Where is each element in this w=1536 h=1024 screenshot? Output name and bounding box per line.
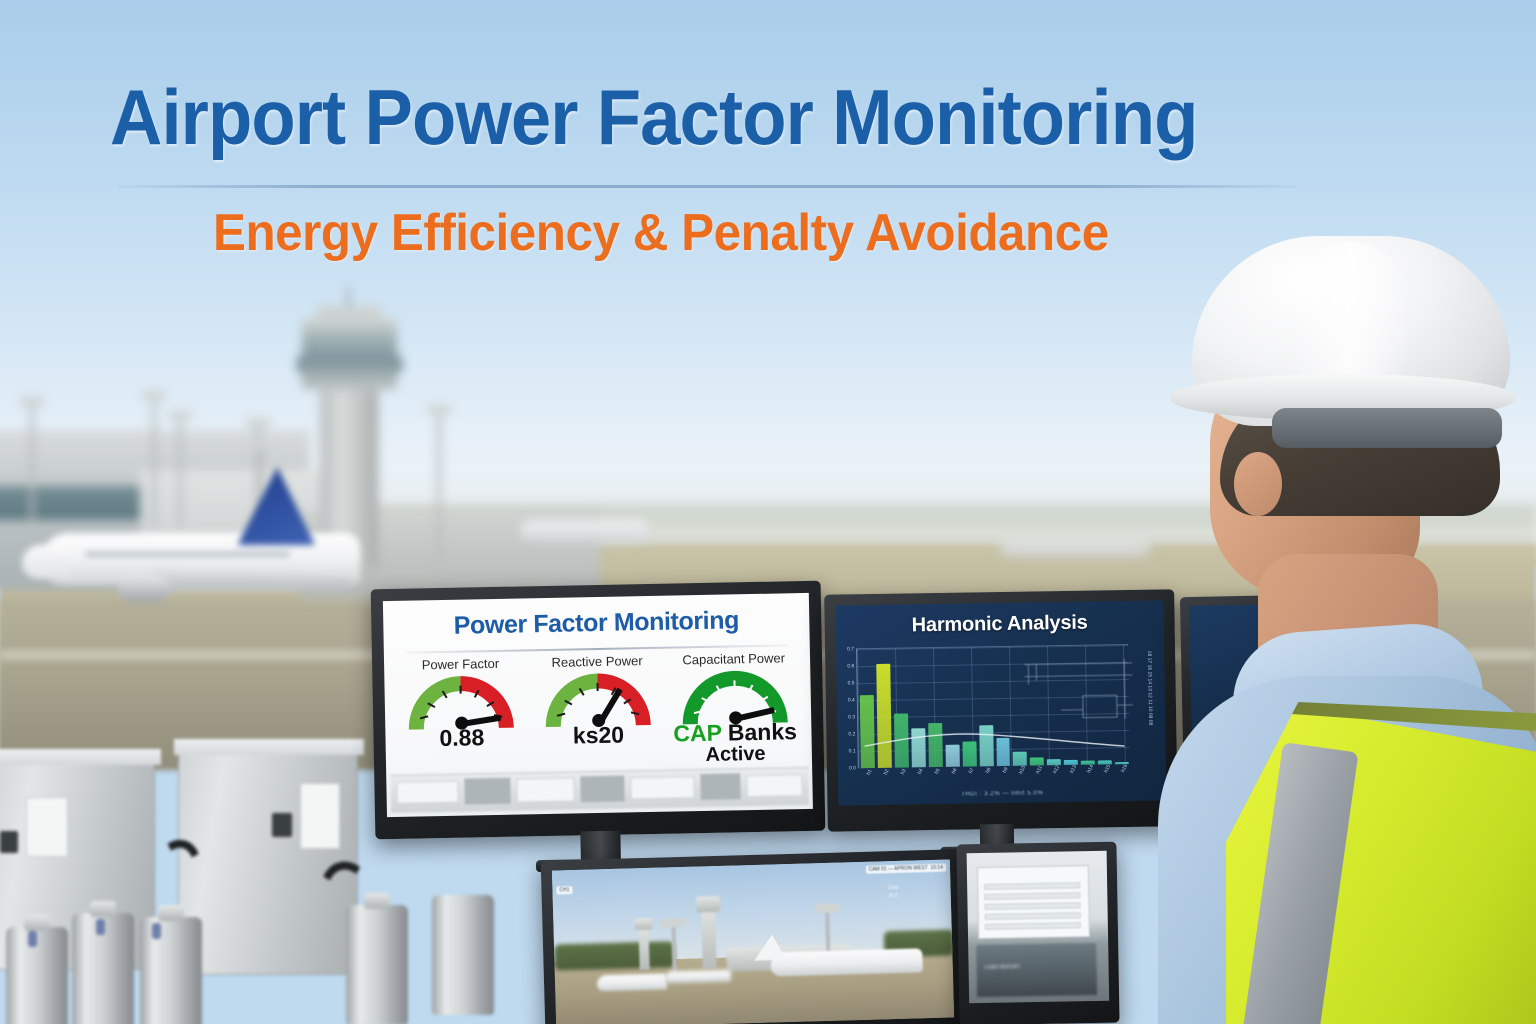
- camera-tower-small: [638, 924, 649, 970]
- chart-y-tick: 0.5: [848, 680, 855, 686]
- chart-y-tick: 0.7: [847, 646, 854, 652]
- harmonic-screen-title: Harmonic Analysis: [835, 610, 1163, 638]
- screen-apron-camera[interactable]: CAM 01 — APRON WEST 10:14 CH1 Gate A12: [552, 859, 954, 1024]
- capacitor-terminal: [24, 915, 50, 931]
- chart-x-tick: h7: [968, 767, 976, 775]
- chart-x-tick: h8: [985, 767, 993, 775]
- chart-x-tick: h16: [1120, 763, 1129, 773]
- gauge-icon: [681, 668, 788, 726]
- gauge-reactive-power[interactable]: Reactive Power: [529, 653, 668, 770]
- strip-cell: [630, 776, 694, 799]
- chart-x-tick: h5: [934, 768, 942, 776]
- load-report-photo: LOAD REPORT: [976, 943, 1097, 997]
- light-mast: [152, 398, 156, 528]
- camera-channel-badge: CH1: [556, 886, 572, 894]
- light-mast: [30, 404, 34, 524]
- chart-x-tick: h12: [1052, 764, 1061, 774]
- camera-hud-line2: A12: [889, 892, 898, 898]
- chart-y-tick: 0.0: [849, 765, 856, 771]
- power-capacitor: [140, 917, 202, 1024]
- chart-x-tick: h11: [1035, 765, 1044, 775]
- load-report-title: LOAD REPORT: [985, 964, 1021, 971]
- control-tower-cab: [302, 318, 397, 390]
- gauge-icon: [544, 671, 651, 729]
- page-subtitle: Energy Efficiency & Penalty Avoidance: [213, 203, 1258, 263]
- strip-cell: [516, 777, 574, 802]
- airliner-windows: [85, 552, 290, 556]
- page-title: Airport Power Factor Monitoring: [110, 72, 1226, 163]
- gauge-label: Capacitant Power: [665, 650, 802, 668]
- monitor-power-factor[interactable]: Power Factor Monitoring Power Factor: [371, 581, 826, 840]
- monitor-harmonic-analysis[interactable]: Harmonic Analysis 0.00.10.20.30.40.50.60…: [824, 589, 1178, 831]
- camera-time-text: 10:14: [930, 865, 943, 871]
- harmonic-footer-note: THDi : 3.2% — limit 5.0%: [838, 788, 1166, 799]
- engineer-figure: [1140, 236, 1536, 1024]
- gauge-label: Power Factor: [392, 655, 529, 673]
- strip-cell: [700, 773, 740, 800]
- airliner-engine: [118, 576, 170, 602]
- camera-hud-line1: Gate: [888, 885, 899, 891]
- cabinet-nameplate: [26, 797, 68, 857]
- cabinet-nameplate: [300, 783, 340, 849]
- camera-aircraft-secondary: [597, 973, 667, 991]
- gauge-label: Reactive Power: [529, 653, 666, 671]
- chart-y-tick: 0.6: [847, 663, 854, 669]
- capacitor-bolt: [152, 923, 161, 939]
- chart-x-tick: h15: [1103, 764, 1112, 774]
- switchgear-cabinet: [178, 745, 358, 975]
- camera-tower-small-cab: [634, 918, 652, 930]
- strip-cell: [396, 781, 458, 804]
- pf-screen-title: Power Factor Monitoring: [383, 605, 809, 642]
- chart-x-tick: h14: [1086, 764, 1095, 774]
- camera-label-text: CAM 01 — APRON WEST: [869, 865, 928, 873]
- control-tower-mast: [347, 288, 350, 308]
- gauge-capacitant-power[interactable]: Capacitant Power: [665, 650, 804, 767]
- chart-y-tick: 0.4: [848, 697, 855, 703]
- chart-x-tick: h10: [1018, 765, 1027, 775]
- camera-treeline: [554, 941, 675, 970]
- gauge-row: Power Factor: [392, 650, 804, 772]
- camera-aircraft-main: [770, 948, 923, 976]
- chart-x-tick: h9: [1002, 767, 1010, 775]
- power-capacitor: [432, 895, 494, 1015]
- chart-x-tick: h4: [917, 768, 925, 776]
- gauge-hub: [729, 711, 742, 724]
- chart-x-tick: h3: [900, 768, 908, 776]
- power-capacitor: [6, 927, 68, 1024]
- capacitor-bolt: [96, 919, 105, 935]
- airliner-nose: [22, 545, 70, 579]
- control-tower-roof: [316, 306, 382, 320]
- pf-data-strip[interactable]: [390, 767, 809, 813]
- cabinet-roof: [0, 749, 161, 765]
- chart-x-tick: h13: [1069, 764, 1078, 774]
- hard-hat-suspension: [1272, 408, 1502, 448]
- gauge-icon: [408, 674, 515, 732]
- chart-y-tick: 0.1: [849, 748, 856, 754]
- cabinet-roof: [174, 739, 364, 755]
- chart-x-tick: h2: [883, 768, 891, 776]
- screen-load-report[interactable]: LOAD REPORT: [967, 851, 1110, 1003]
- monitor-apron-camera[interactable]: CAM 01 — APRON WEST 10:14 CH1 Gate A12: [541, 849, 966, 1024]
- title-divider: [118, 185, 1296, 188]
- light-mast: [437, 412, 441, 562]
- chart-x-tick: h6: [951, 767, 959, 775]
- strip-cell: [464, 778, 510, 805]
- strip-cell: [580, 776, 624, 803]
- monitor-load-report[interactable]: LOAD REPORT: [956, 842, 1119, 1024]
- light-mast: [178, 418, 182, 528]
- cabinet-latch: [0, 831, 18, 853]
- gauge-power-factor[interactable]: Power Factor: [392, 655, 531, 772]
- chart-y-tick: 0.2: [848, 731, 855, 737]
- chart-x-tick: h1: [866, 769, 874, 777]
- camera-tower-cab: [696, 896, 720, 913]
- engineer-ear: [1234, 452, 1282, 516]
- camera-hud: Gate A12: [888, 885, 899, 900]
- capacitor-bolt: [28, 931, 37, 947]
- load-report-form[interactable]: [977, 865, 1090, 939]
- gauge-status: Active: [667, 744, 804, 768]
- capacitor-terminal: [90, 901, 116, 917]
- screen-harmonic-analysis[interactable]: Harmonic Analysis 0.00.10.20.30.40.50.60…: [835, 600, 1166, 805]
- poster-canvas: Airport Power Factor Monitoring Energy E…: [0, 0, 1536, 1024]
- screen-power-factor[interactable]: Power Factor Monitoring Power Factor: [383, 593, 813, 817]
- chart-y-tick: 0.3: [848, 714, 855, 720]
- strip-cell: [746, 774, 802, 797]
- camera-aircraft-secondary: [665, 970, 731, 984]
- schematic-overlay: [1020, 653, 1139, 727]
- distant-aircraft: [520, 520, 650, 542]
- distant-aircraft: [1000, 540, 1150, 556]
- cabinet-latch: [272, 813, 292, 837]
